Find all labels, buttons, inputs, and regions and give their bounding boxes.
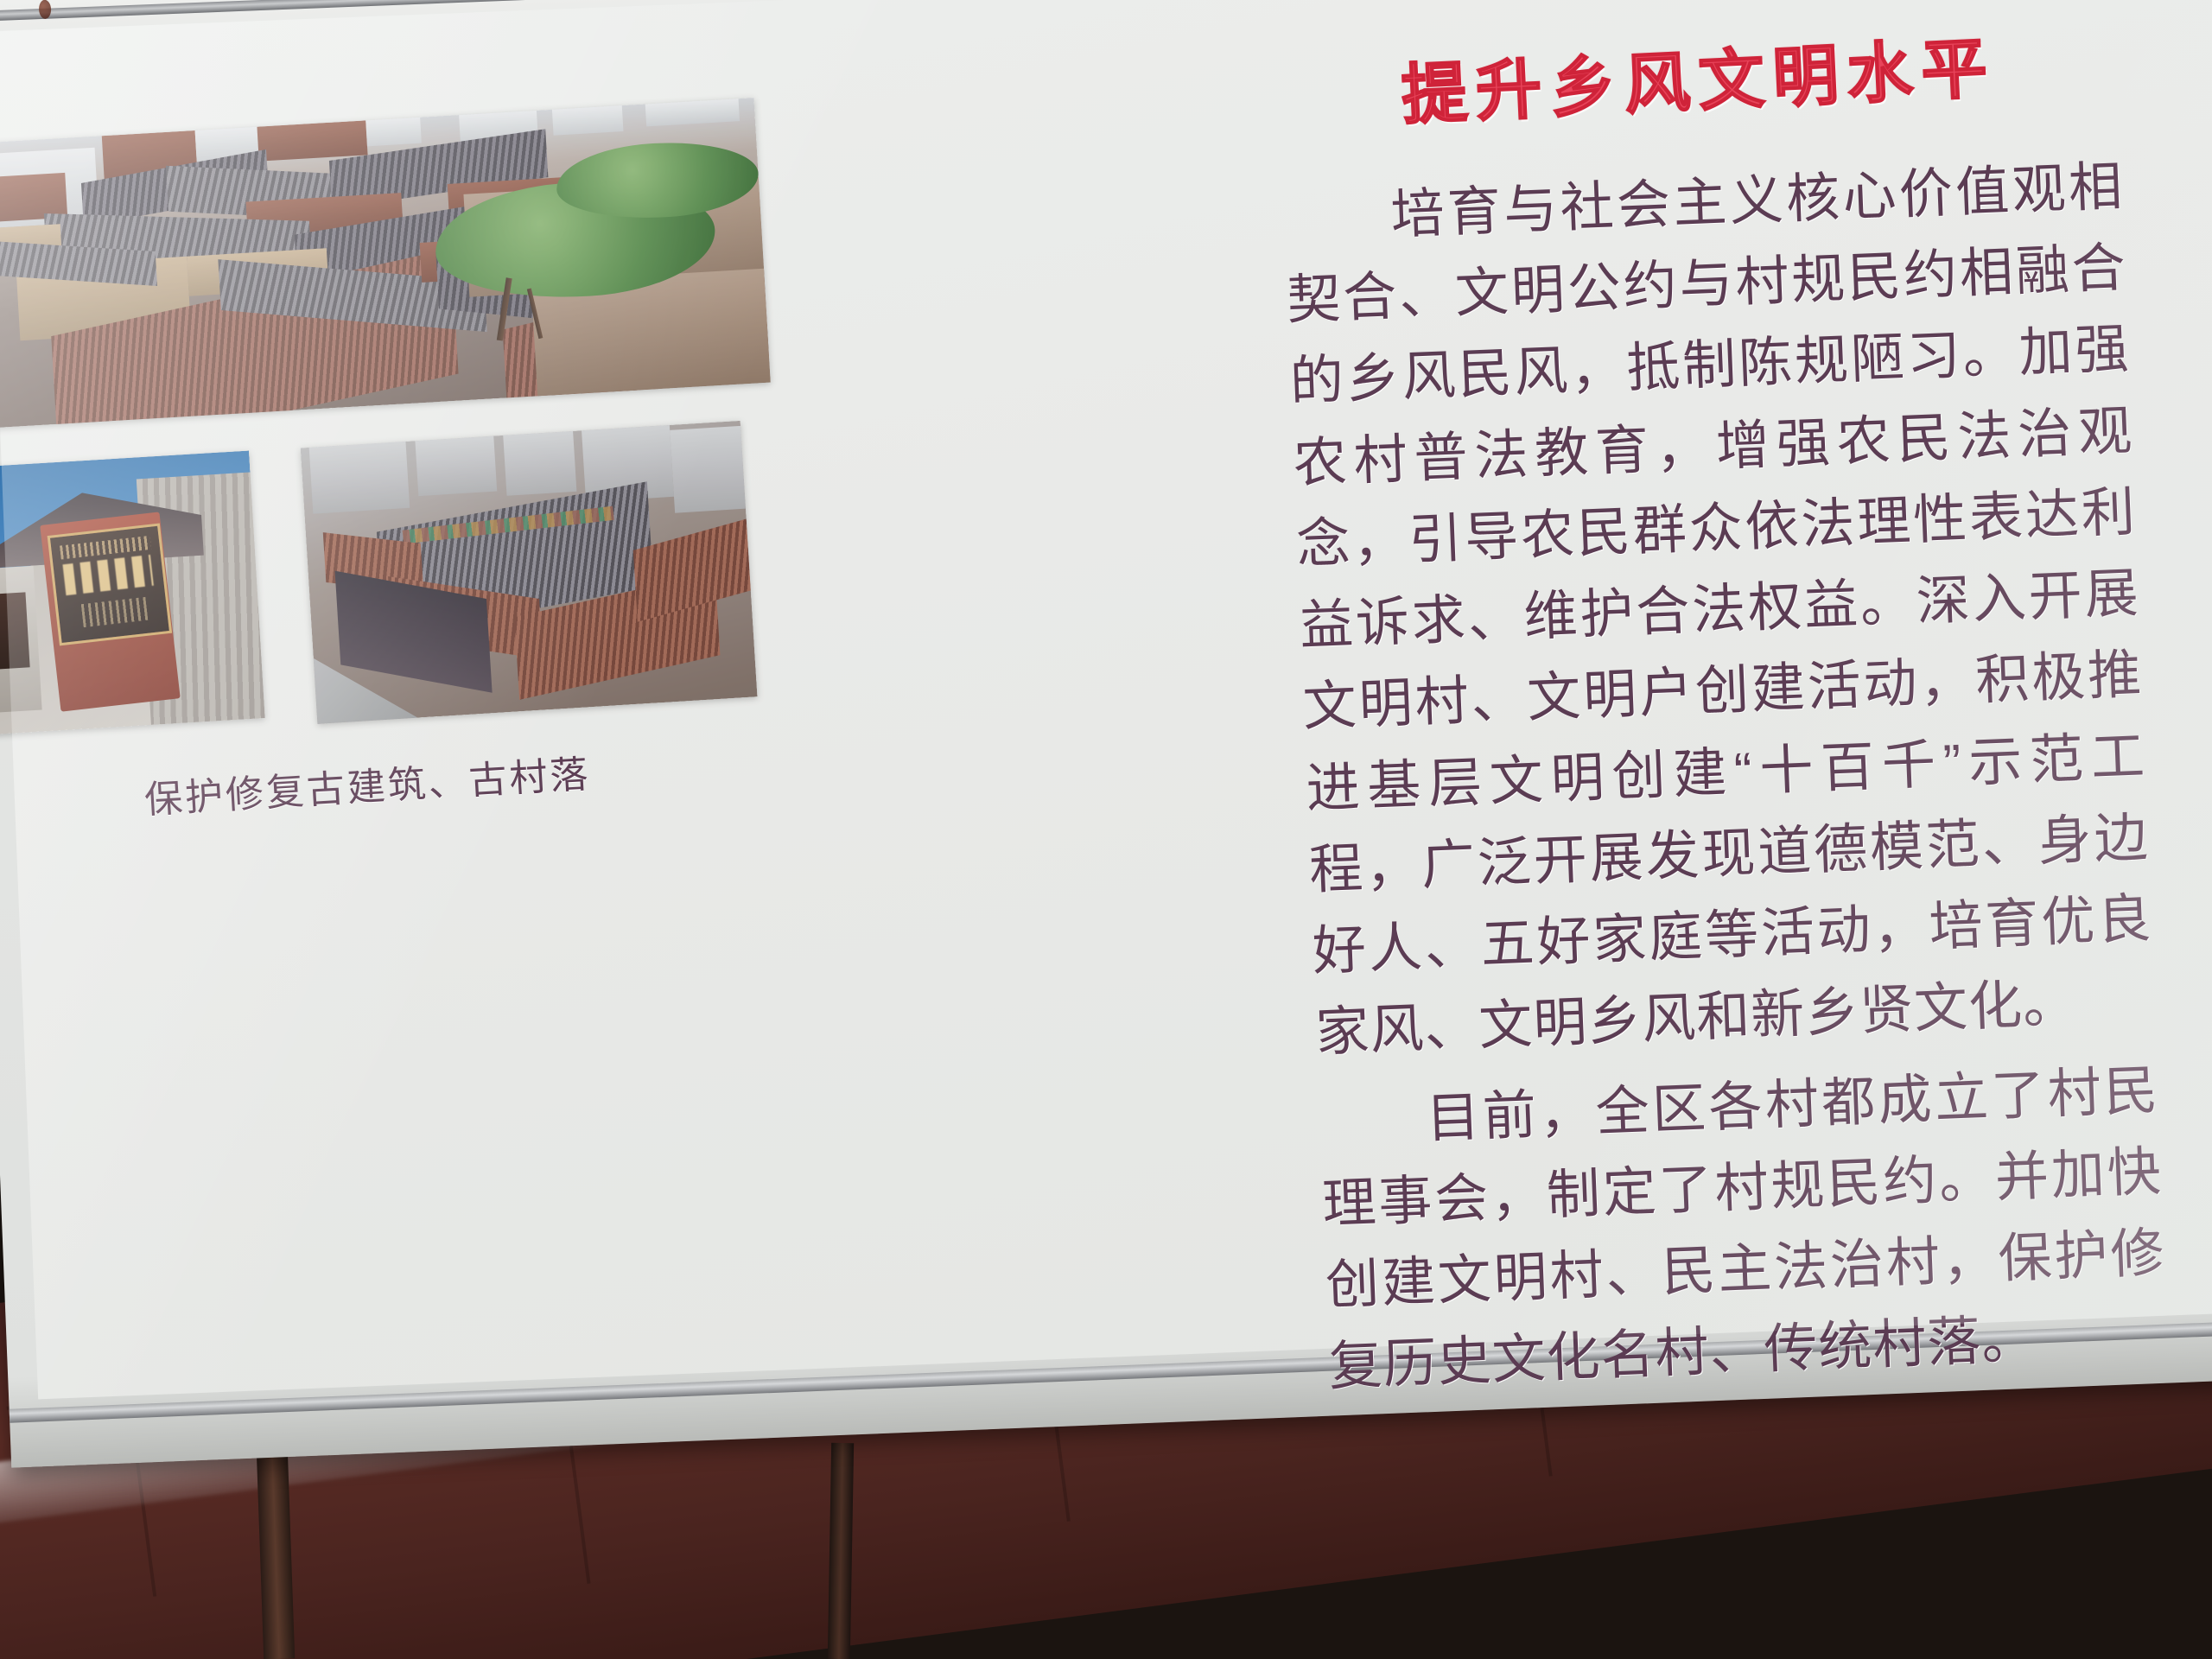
photo-caption: 保护修复古建筑、古村落 — [143, 743, 592, 824]
photo-ancestral-hall-sign — [0, 451, 265, 735]
photo-restored-village-roofs — [301, 421, 758, 724]
board-panel: 保护修复古建筑、古村落 提升乡风文明水平 培育与社会主义核心价值观相契合、文明公… — [0, 0, 2212, 1399]
body-paragraph-2: 目前，全区各村都成立了村民理事会，制定了村规民约。并加快创建文明村、民主法治村，… — [1318, 1050, 2170, 1408]
page-title: 提升乡风文明水平 — [1277, 9, 2120, 143]
information-board: 保护修复古建筑、古村落 提升乡风文明水平 培育与社会主义核心价值观相契合、文明公… — [0, 0, 2212, 1468]
board-frame: 保护修复古建筑、古村落 提升乡风文明水平 培育与社会主义核心价值观相契合、文明公… — [0, 0, 2212, 1468]
support-post-right — [828, 1443, 854, 1659]
text-column: 提升乡风文明水平 培育与社会主义核心价值观相契合、文明公约与村规民约相融合的乡风… — [1254, 0, 2212, 1350]
photo-aerial-village-rooftops — [0, 98, 771, 428]
body-paragraph-1: 培育与社会主义核心价值观相契合、文明公约与村规民约相融合的乡风民风，抵制陈规陋习… — [1282, 147, 2157, 1075]
photo-column: 保护修复古建筑、古村落 — [0, 0, 1307, 1399]
